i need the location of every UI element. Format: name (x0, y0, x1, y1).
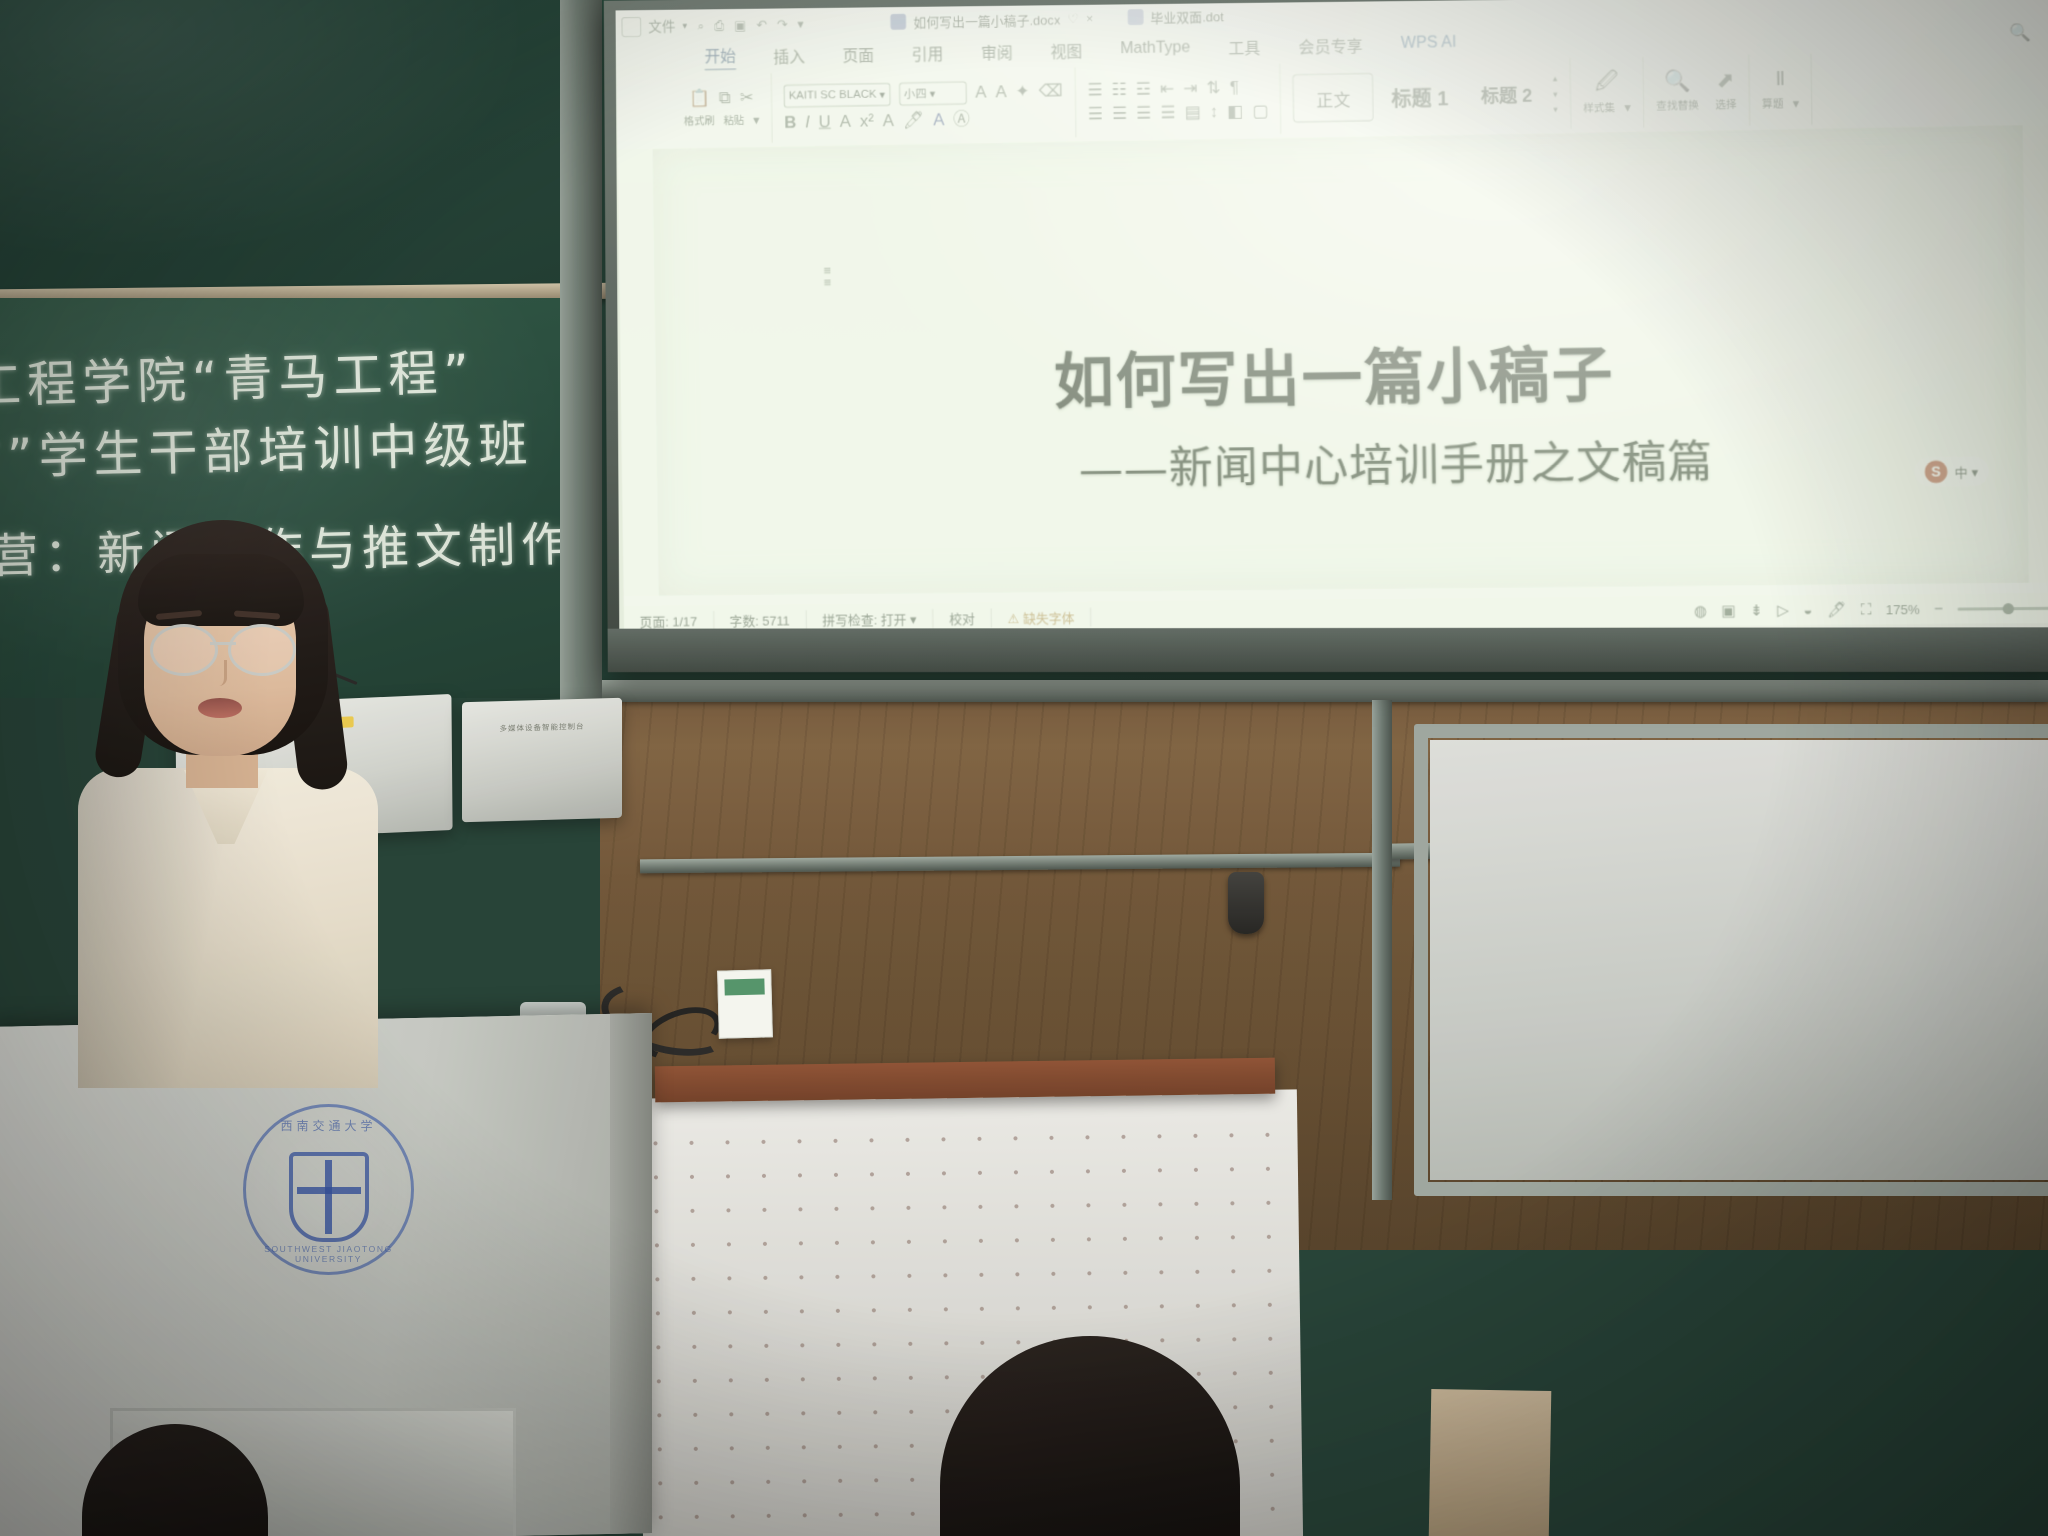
glasses-lens-left (150, 624, 218, 676)
ribbon-group-clipboard: 📋 ⧉ ✂ 格式刷 粘贴 ▾ (671, 73, 772, 144)
shrink-font-icon[interactable]: A (995, 84, 1006, 101)
small-box (717, 969, 773, 1038)
document-tab-secondary[interactable]: 毕业双面.dot (1115, 2, 1236, 30)
status-page[interactable]: 页面: 1/17 (624, 611, 714, 629)
chevron-down-icon: ▾ (929, 86, 935, 100)
show-marks-icon[interactable]: ¶ (1230, 79, 1239, 96)
ime-indicator[interactable]: S 中 ▾ (1914, 457, 1988, 486)
tab-reference[interactable]: 引用 (911, 41, 943, 66)
strikethrough-icon[interactable]: A (840, 112, 851, 129)
font-name-combobox[interactable]: KAITI SC BLACK ▾ (784, 83, 891, 108)
document-tab-label-alt: 毕业双面.dot (1150, 6, 1224, 26)
font-color-icon[interactable]: A (933, 111, 944, 128)
blackboard-upper (0, 0, 600, 300)
superscript-icon[interactable]: x² (860, 112, 874, 129)
document-tab-label: 如何写出一篇小稿子.docx (913, 9, 1060, 31)
search-ribbon-icon[interactable]: 🔍 (2010, 24, 2032, 42)
find-replace-label[interactable]: 查找替换 (1656, 97, 1699, 113)
document-subheading: ——新闻中心培训手册之文稿篇 (657, 422, 2028, 502)
lectern-console-secondary[interactable]: 多媒体设备智能控制台 (462, 698, 622, 822)
bullet-list-icon[interactable]: ☰ (1087, 82, 1102, 99)
chevron-down-icon[interactable]: ▾ (1793, 96, 1800, 109)
wps-writer-window[interactable]: 文件 ▾ ⌕ ⎙ ▣ ↶ ↷ ▾ 如何写出一篇小稿子.docx ♡ × (616, 0, 2048, 629)
close-icon[interactable]: × (1086, 11, 1094, 24)
styles-more-icon[interactable]: ▾ (1553, 103, 1558, 114)
night-icon[interactable]: ◒ (1803, 601, 1812, 618)
status-spellcheck-label: 拼写检查: 打开 (822, 612, 906, 628)
style-normal[interactable]: 正文 (1293, 73, 1374, 123)
page-view-icon[interactable]: ▣ (1721, 602, 1736, 620)
italic-icon[interactable]: I (805, 113, 810, 130)
print-icon[interactable]: ⎙ (714, 19, 724, 32)
redo-icon[interactable]: ↷ (777, 17, 788, 30)
shading-icon[interactable]: ◧ (1227, 102, 1243, 119)
tab-review[interactable]: 审阅 (981, 40, 1013, 65)
web-view-icon[interactable]: ◍ (1694, 602, 1708, 620)
text-highlight-icon[interactable]: 🖊 (903, 111, 925, 128)
speaker-nose (212, 660, 227, 686)
zoom-level[interactable]: 175% (1886, 601, 1920, 617)
wps-logo-icon (622, 17, 642, 37)
find-replace-icon[interactable]: 🔍 (1664, 71, 1691, 93)
projection-screen: 文件 ▾ ⌕ ⎙ ▣ ↶ ↷ ▾ 如何写出一篇小稿子.docx ♡ × (616, 0, 2048, 629)
document-heading: 如何写出一篇小稿子 (655, 320, 2026, 426)
ribbon-group-topic: Ⅱ 算题 ▾ (1749, 54, 1813, 126)
warning-icon: ⚠ (1008, 611, 1023, 626)
ime-mode-label[interactable]: 中 ▾ (1954, 462, 1978, 482)
underline-icon[interactable]: U (819, 113, 831, 130)
tab-wps-ai[interactable]: WPS AI (1401, 34, 1457, 53)
sort-icon[interactable]: ⇅ (1206, 80, 1220, 97)
play-icon[interactable]: ▷ (1777, 601, 1789, 619)
ribbon-group-font: KAITI SC BLACK ▾ 小四 ▾ A A ✦ ⌫ (772, 67, 1076, 142)
customize-icon[interactable]: ▾ (797, 17, 804, 30)
page-sheet[interactable]: ≡≡ 如何写出一篇小稿子 ——新闻中心培训手册之文稿篇 S 中 ▾ (653, 125, 2029, 596)
tab-view[interactable]: 视图 (1050, 38, 1082, 63)
paste-icon[interactable]: 📋 (689, 90, 710, 107)
chalk-line-2: 才”学生干部培训中级班 (0, 405, 534, 490)
tab-mathtype[interactable]: MathType (1120, 39, 1190, 58)
chevron-down-icon: ▾ (682, 20, 687, 31)
style-heading-2[interactable]: 标题 2 (1466, 70, 1548, 120)
door-knob (1228, 872, 1264, 934)
distribute-icon[interactable]: ▤ (1184, 103, 1200, 120)
topic-icon[interactable]: Ⅱ (1775, 69, 1785, 89)
topic-label[interactable]: 算题 (1762, 95, 1784, 111)
tab-start[interactable]: 开始 (704, 42, 736, 71)
bold-icon[interactable]: B (784, 113, 796, 130)
cut-icon[interactable]: ✂ (739, 89, 753, 106)
styleset-label[interactable]: 样式集 (1583, 99, 1615, 115)
wall-trim-vertical (1372, 700, 1392, 1200)
document-tab-active[interactable]: 如何写出一篇小稿子.docx ♡ × (879, 5, 1106, 35)
status-word-count[interactable]: 字数: 5711 (714, 610, 807, 629)
seal-english-name: SOUTHWEST JIAOTONG UNIVERSITY (246, 1244, 411, 1264)
box-label (724, 978, 764, 995)
fullscreen-icon[interactable]: ⛶ (1861, 601, 1872, 618)
status-bar: 页面: 1/17 字数: 5711 拼写检查: 打开 ▾ 校对 ⚠ 缺失字体 ◍… (624, 593, 2048, 629)
copy-icon[interactable]: ⧉ (719, 90, 731, 107)
status-spellcheck[interactable]: 拼写检查: 打开 ▾ (806, 609, 933, 629)
text-effect-icon[interactable]: A (883, 112, 894, 129)
sogou-icon: S (1924, 461, 1947, 484)
line-spacing-icon[interactable]: ↕ (1209, 103, 1218, 120)
select-icon[interactable]: ⬈ (1716, 70, 1734, 92)
pen-icon[interactable]: 🖊 (1827, 601, 1847, 619)
file-menu-label: 文件 (648, 16, 676, 36)
chevron-down-icon[interactable]: ▾ (1624, 100, 1631, 113)
clipboard-expand-icon[interactable]: ▾ (753, 113, 760, 126)
align-center-icon[interactable]: ☰ (1112, 104, 1127, 121)
podium-right-edge (610, 1013, 652, 1534)
chalk-line-1: 工程学院“青马工程” (0, 333, 476, 418)
format-painter-label[interactable]: 格式刷 (684, 113, 715, 128)
ribbon-group-styles: 正文 标题 1 标题 2 ▴ ▾ ▾ (1281, 58, 1572, 134)
grow-font-icon[interactable]: A (975, 84, 986, 101)
styles-scroll-up-icon[interactable]: ▴ (1553, 73, 1558, 84)
university-seal: 西南交通大学 SOUTHWEST JIAOTONG UNIVERSITY (243, 1104, 414, 1275)
status-font-warning[interactable]: ⚠ 缺失字体 (992, 607, 1092, 627)
clear-format-icon[interactable]: ⌫ (1039, 83, 1063, 100)
blackboard-right-frame (560, 0, 602, 700)
font-name-value: KAITI SC BLACK (789, 89, 877, 103)
glasses-bridge (210, 642, 236, 645)
chevron-down-icon[interactable]: ▾ (910, 612, 917, 627)
styleset-icon[interactable]: 🖉 (1595, 71, 1619, 94)
numbered-list-icon[interactable]: ☷ (1111, 81, 1126, 98)
speaker-person (100, 520, 380, 1080)
increase-indent-icon[interactable]: ⇥ (1183, 80, 1197, 97)
font-size-value: 小四 (904, 86, 927, 102)
justify-icon[interactable]: ☰ (1160, 104, 1175, 121)
tab-member[interactable]: 会员专享 (1298, 33, 1363, 58)
classroom-photo: 工程学院“青马工程” 才”学生干部培训中级班 练营：新闻写作与推文制作 文件 ▾… (0, 0, 2048, 1536)
save-icon[interactable]: ⌕ (697, 19, 704, 32)
tab-tools[interactable]: 工具 (1228, 35, 1260, 60)
glasses-lens-right (228, 624, 296, 676)
seal-chinese-name: 西南交通大学 (246, 1117, 411, 1134)
style-heading-1[interactable]: 标题 1 (1379, 71, 1460, 121)
ribbon-group-styleset: 🖉 样式集 ▾ (1570, 57, 1644, 129)
outline-icon[interactable]: ⇟ (1750, 601, 1763, 619)
preview-icon[interactable]: ▣ (734, 18, 746, 31)
align-right-icon[interactable]: ☰ (1136, 104, 1151, 121)
paragraph-mark-icon: ≡≡ (824, 265, 832, 288)
outline-list-icon[interactable]: ☲ (1136, 81, 1151, 98)
tab-page[interactable]: 页面 (842, 42, 874, 67)
select-label[interactable]: 选择 (1715, 96, 1737, 112)
zoom-slider[interactable] (1957, 606, 2048, 610)
document-canvas[interactable]: ≡≡ 如何写出一篇小稿子 ——新闻中心培训手册之文稿篇 S 中 ▾ (617, 124, 2048, 596)
doc-file-icon-alt (1127, 9, 1143, 25)
ribbon-group-paragraph: ☰ ☷ ☲ ⇤ ⇥ ⇅ ¶ ☰ ☰ ☰ ☰ (1075, 64, 1281, 138)
whiteboard (1430, 740, 2048, 1180)
speaker-mouth (198, 698, 242, 718)
chevron-down-icon: ▾ (879, 87, 885, 101)
doc-file-icon (891, 14, 907, 30)
undo-icon[interactable]: ↶ (756, 18, 767, 31)
status-proofread[interactable]: 校对 (933, 608, 992, 628)
seal-shield-icon (289, 1152, 369, 1242)
styles-scroll-down-icon[interactable]: ▾ (1553, 88, 1558, 99)
borders-icon[interactable]: ▢ (1252, 102, 1268, 119)
screen-bottom-bar (608, 627, 2048, 672)
align-left-icon[interactable]: ☰ (1088, 105, 1103, 122)
tab-insert[interactable]: 插入 (773, 44, 805, 68)
wall-trim-upper (600, 680, 2048, 702)
projection-screen-bezel: 文件 ▾ ⌕ ⎙ ▣ ↶ ↷ ▾ 如何写出一篇小稿子.docx ♡ × (604, 0, 2048, 672)
file-menu[interactable]: 文件 ▾ (622, 16, 688, 37)
status-font-warning-label: 缺失字体 (1023, 610, 1075, 625)
ribbon-group-editing: 🔍 查找替换 ⬈ 选择 (1643, 55, 1750, 128)
decrease-indent-icon[interactable]: ⇤ (1160, 81, 1174, 98)
stool (1429, 1389, 1552, 1536)
font-size-combobox[interactable]: 小四 ▾ (899, 81, 967, 105)
console-secondary-label: 多媒体设备智能控制台 (462, 720, 622, 735)
cloud-icon[interactable]: ♡ (1067, 12, 1079, 25)
highlight-icon[interactable]: ✦ (1015, 83, 1029, 100)
zoom-out-icon[interactable]: − (1934, 600, 1943, 617)
character-border-icon[interactable]: Ⓐ (953, 110, 970, 127)
paste-label[interactable]: 粘贴 (723, 112, 744, 127)
status-view-controls: ◍ ▣ ⇟ ▷ ◒ 🖊 ⛶ 175% − (1694, 599, 2048, 621)
